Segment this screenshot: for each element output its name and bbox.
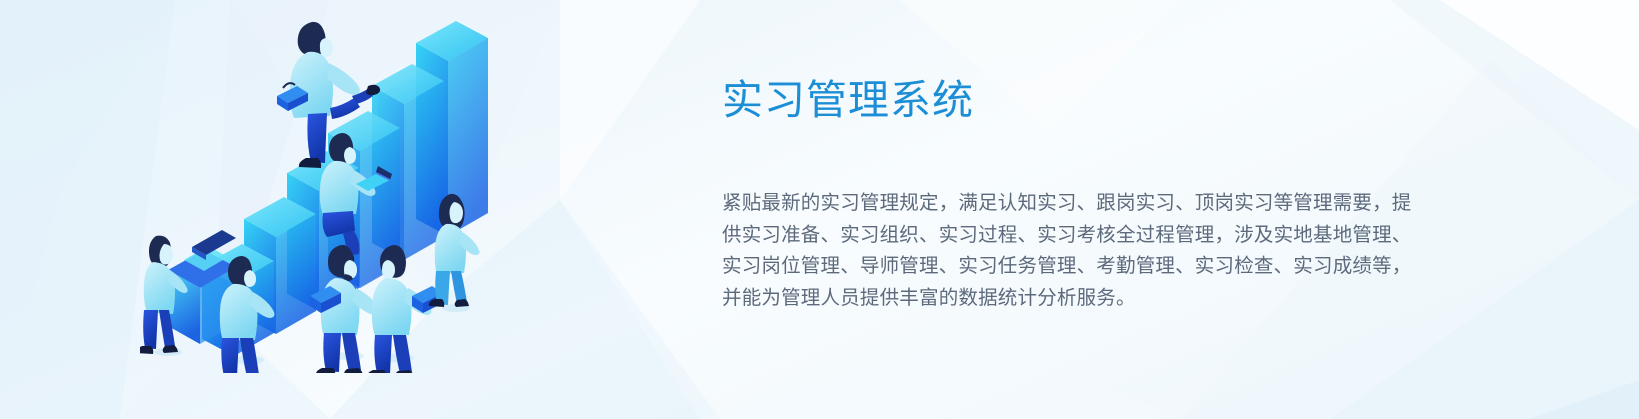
page-title: 实习管理系统: [722, 74, 1422, 126]
banner-text-block: 实习管理系统 紧贴最新的实习管理规定，满足认知实习、跟岗实习、顶岗实习等管理需要…: [722, 74, 1422, 314]
banner-description: 紧贴最新的实习管理规定，满足认知实习、跟岗实习、顶岗实习等管理需要，提 供实习准…: [722, 188, 1406, 314]
illustration-isometric-growth-chart: [140, 8, 500, 373]
description-line: 实习岗位管理、导师管理、实习任务管理、考勤管理、实习检查、实习成绩等，: [722, 251, 1406, 283]
hero-banner: 实习管理系统 紧贴最新的实习管理规定，满足认知实习、跟岗实习、顶岗实习等管理需要…: [0, 0, 1639, 419]
description-line: 紧贴最新的实习管理规定，满足认知实习、跟岗实习、顶岗实习等管理需要，提: [722, 188, 1406, 220]
description-line: 并能为管理人员提供丰富的数据统计分析服务。: [722, 283, 1406, 315]
description-line: 供实习准备、实习组织、实习过程、实习考核全过程管理，涉及实地基地管理、: [722, 220, 1406, 252]
